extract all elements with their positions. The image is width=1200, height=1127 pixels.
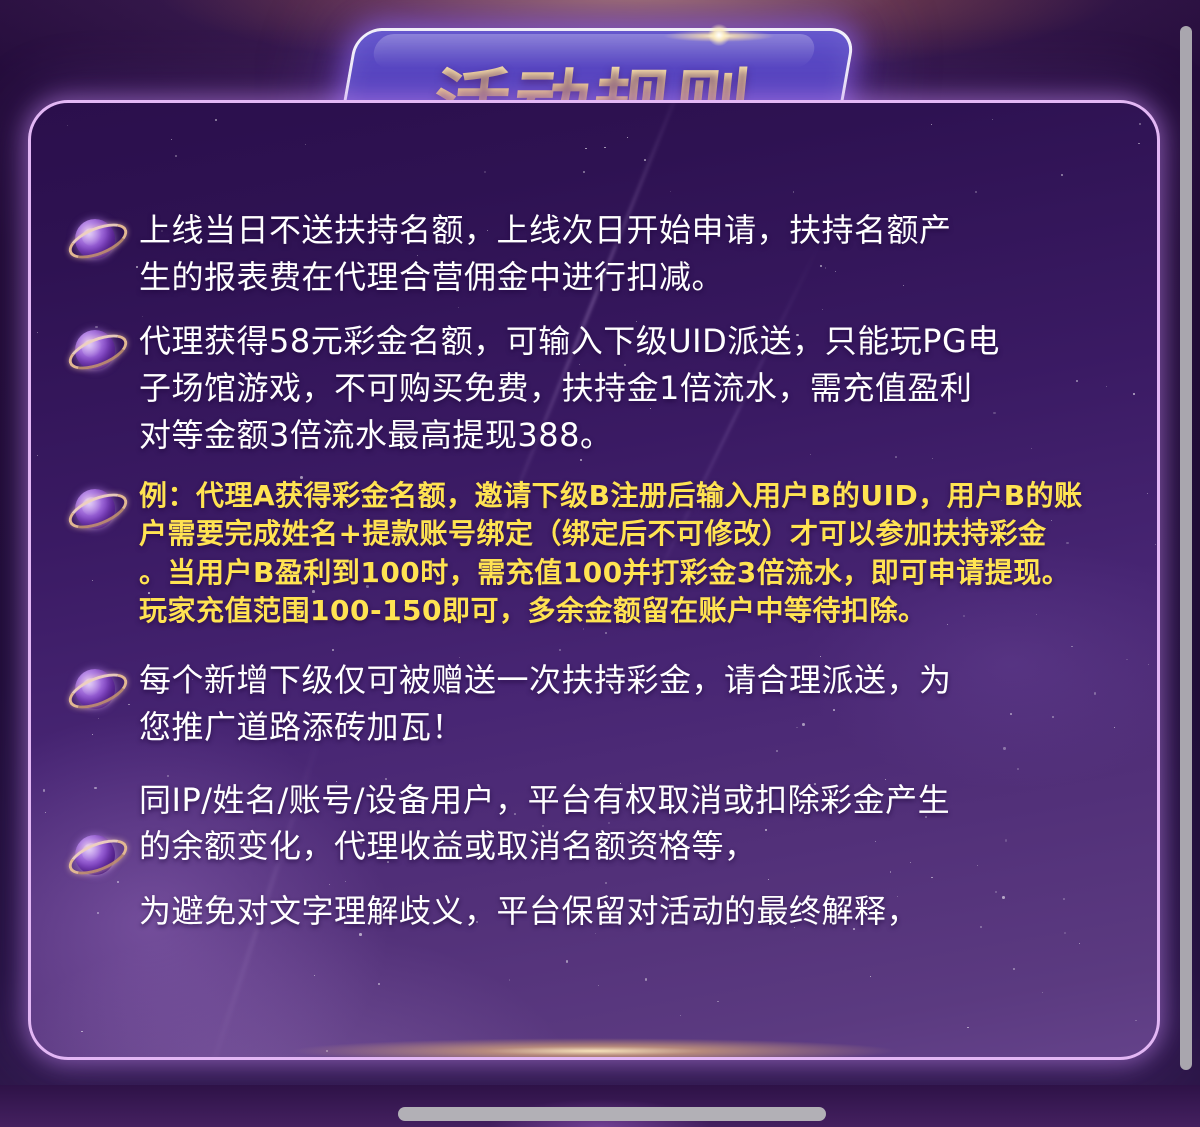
planet-icon xyxy=(69,483,121,535)
horizontal-scrollbar[interactable] xyxy=(0,1107,1200,1121)
rule-text-highlight: 例：代理A获得彩金名额，邀请下级B注册后输入用户B的UID，用户B的账 户需要完… xyxy=(139,477,1101,632)
rule-text: 上线当日不送扶持名额，上线次日开始申请，扶持名额产 生的报表费在代理合营佣金中进… xyxy=(139,207,1101,300)
planet-icon xyxy=(69,663,121,715)
page-root: 活动规则 上线当日不送扶持名额，上线次日开始申请，扶持名额产 生的报表费在代理合… xyxy=(0,0,1200,1127)
rule-text: 每个新增下级仅可被赠送一次扶持彩金，请合理派送，为 您推广道路添砖加瓦！ xyxy=(139,657,1101,750)
vertical-scrollbar-thumb[interactable] xyxy=(1180,26,1192,1070)
rules-list: 上线当日不送扶持名额，上线次日开始申请，扶持名额产 生的报表费在代理合营佣金中进… xyxy=(31,103,1157,1057)
rule-item: 上线当日不送扶持名额，上线次日开始申请，扶持名额产 生的报表费在代理合营佣金中进… xyxy=(139,207,1101,300)
horizontal-scrollbar-thumb[interactable] xyxy=(398,1107,826,1121)
rule-item-footer: 为避免对文字理解歧义，平台保留对活动的最终解释， xyxy=(139,888,1101,935)
rule-item: 同IP/姓名/账号/设备用户，平台有权取消或扣除彩金产生 的余额变化，代理收益或… xyxy=(139,777,1101,870)
planet-icon xyxy=(69,829,121,881)
rule-text: 代理获得58元彩金名额，可输入下级UID派送，只能玩PG电 子场馆游戏，不可购买… xyxy=(139,318,1101,458)
planet-icon xyxy=(69,213,121,265)
rule-item: 每个新增下级仅可被赠送一次扶持彩金，请合理派送，为 您推广道路添砖加瓦！ xyxy=(139,657,1101,750)
planet-icon xyxy=(69,324,121,376)
rule-item-example: 例：代理A获得彩金名额，邀请下级B注册后输入用户B的UID，用户B的账 户需要完… xyxy=(139,477,1101,632)
rule-item: 代理获得58元彩金名额，可输入下级UID派送，只能玩PG电 子场馆游戏，不可购买… xyxy=(139,318,1101,458)
rule-text: 同IP/姓名/账号/设备用户，平台有权取消或扣除彩金产生 的余额变化，代理收益或… xyxy=(139,777,1101,870)
rule-text: 为避免对文字理解歧义，平台保留对活动的最终解释， xyxy=(139,888,1101,935)
vertical-scrollbar[interactable] xyxy=(1180,0,1192,1127)
rules-card: 上线当日不送扶持名额，上线次日开始申请，扶持名额产 生的报表费在代理合营佣金中进… xyxy=(28,100,1160,1060)
